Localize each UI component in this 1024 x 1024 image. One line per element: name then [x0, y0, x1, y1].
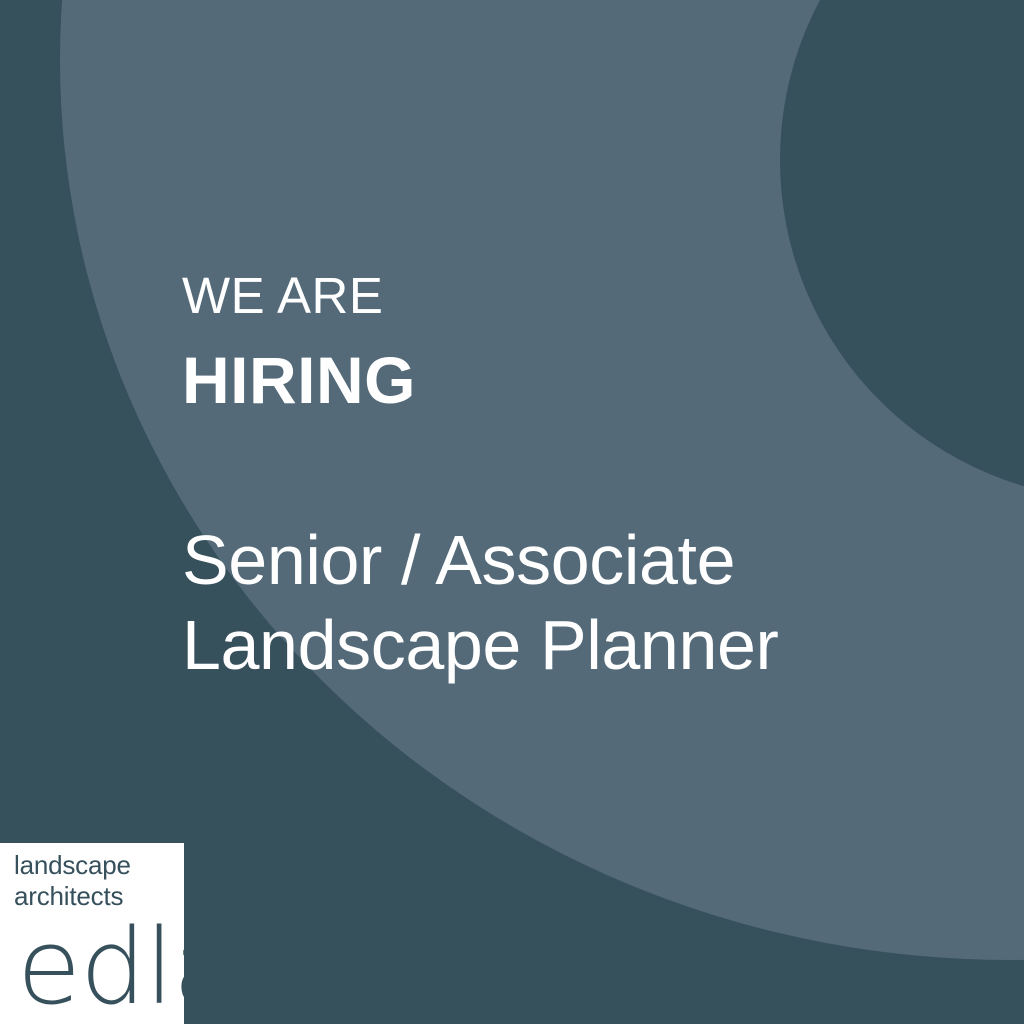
role-title-line-1: Senior / Associate — [182, 518, 942, 603]
eyebrow-text: WE ARE — [182, 270, 902, 321]
headline-text: HIRING — [182, 347, 902, 413]
logo-tagline: landscape architects — [14, 850, 131, 912]
logo-wordmark: edla — [17, 915, 184, 1019]
role-title-line-2: Landscape Planner — [182, 603, 942, 688]
edla-logo: landscape architects edla — [0, 843, 184, 1024]
role-title-block: Senior / Associate Landscape Planner — [182, 518, 942, 688]
headline-block: WE ARE HIRING — [182, 270, 902, 413]
logo-tagline-line-1: landscape — [14, 850, 131, 881]
hiring-poster: WE ARE HIRING Senior / Associate Landsca… — [0, 0, 1024, 1024]
